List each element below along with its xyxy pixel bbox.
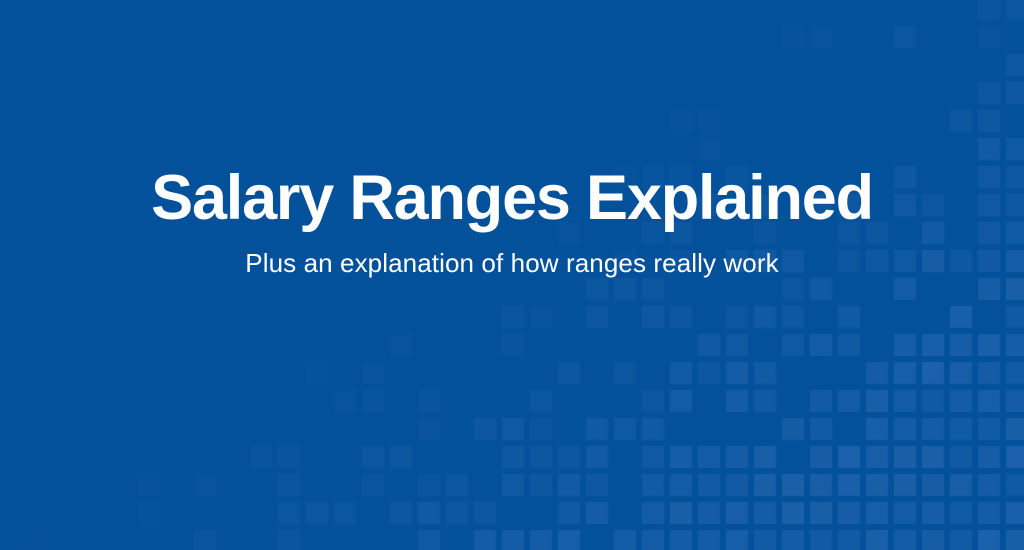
background-square-pattern <box>0 0 1024 550</box>
page-title: Salary Ranges Explained <box>0 166 1024 230</box>
square-grid-canvas <box>0 0 1024 550</box>
slide-canvas: Salary Ranges Explained Plus an explanat… <box>0 0 1024 550</box>
hero-text-block: Salary Ranges Explained Plus an explanat… <box>0 166 1024 279</box>
page-subtitle: Plus an explanation of how ranges really… <box>0 248 1024 279</box>
